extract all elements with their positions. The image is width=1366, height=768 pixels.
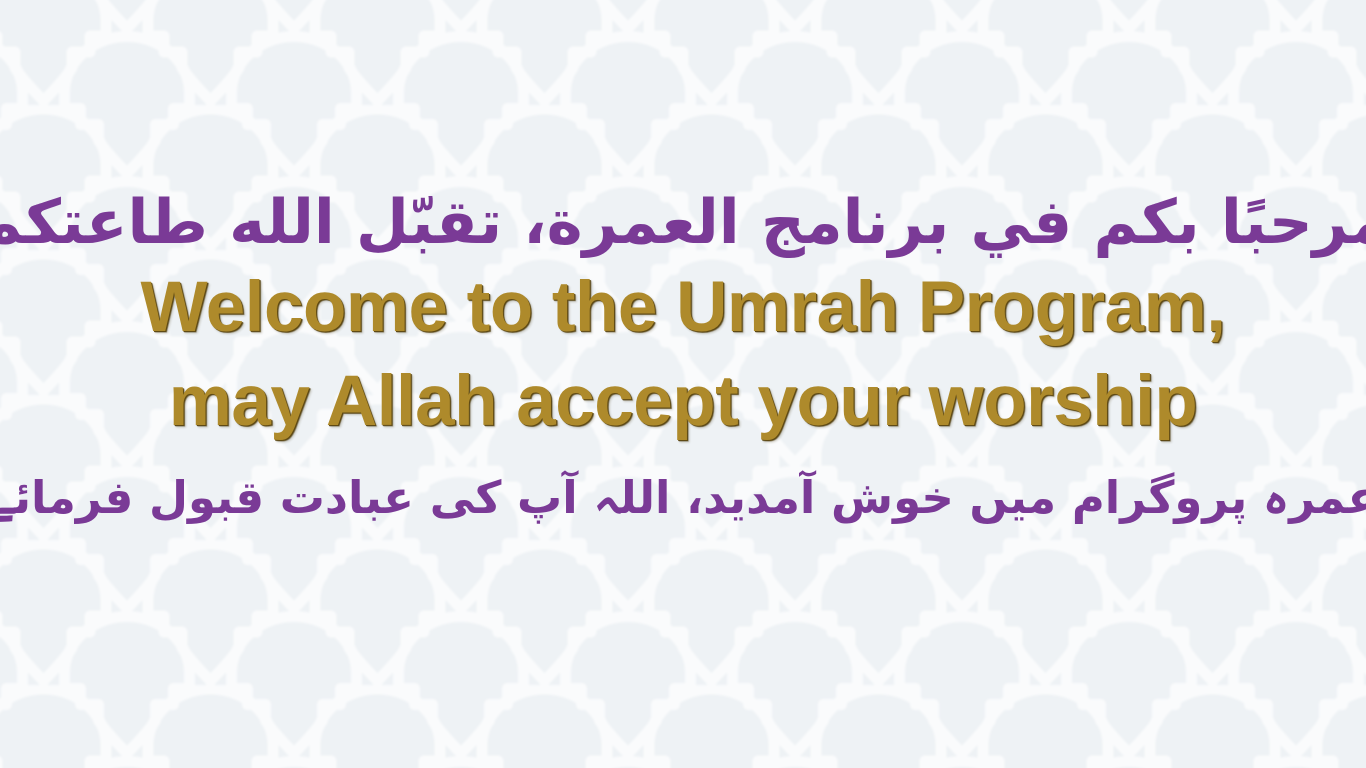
arabic-welcome-heading: مرحبًا بكم في برنامج العمرة، تقبّل الله … bbox=[0, 176, 1366, 268]
urdu-welcome-heading: عمرہ پروگرام میں خوش آمدید، اللہ آپ کی ع… bbox=[0, 462, 1366, 532]
welcome-text-block: مرحبًا بكم في برنامج العمرة، تقبّل الله … bbox=[0, 176, 1366, 532]
welcome-slide: مرحبًا بكم في برنامج العمرة، تقبّل الله … bbox=[0, 0, 1366, 768]
english-welcome-heading-line-2: may Allah accept your worship bbox=[0, 362, 1366, 440]
english-welcome-heading-line-1: Welcome to the Umrah Program, bbox=[0, 268, 1366, 346]
